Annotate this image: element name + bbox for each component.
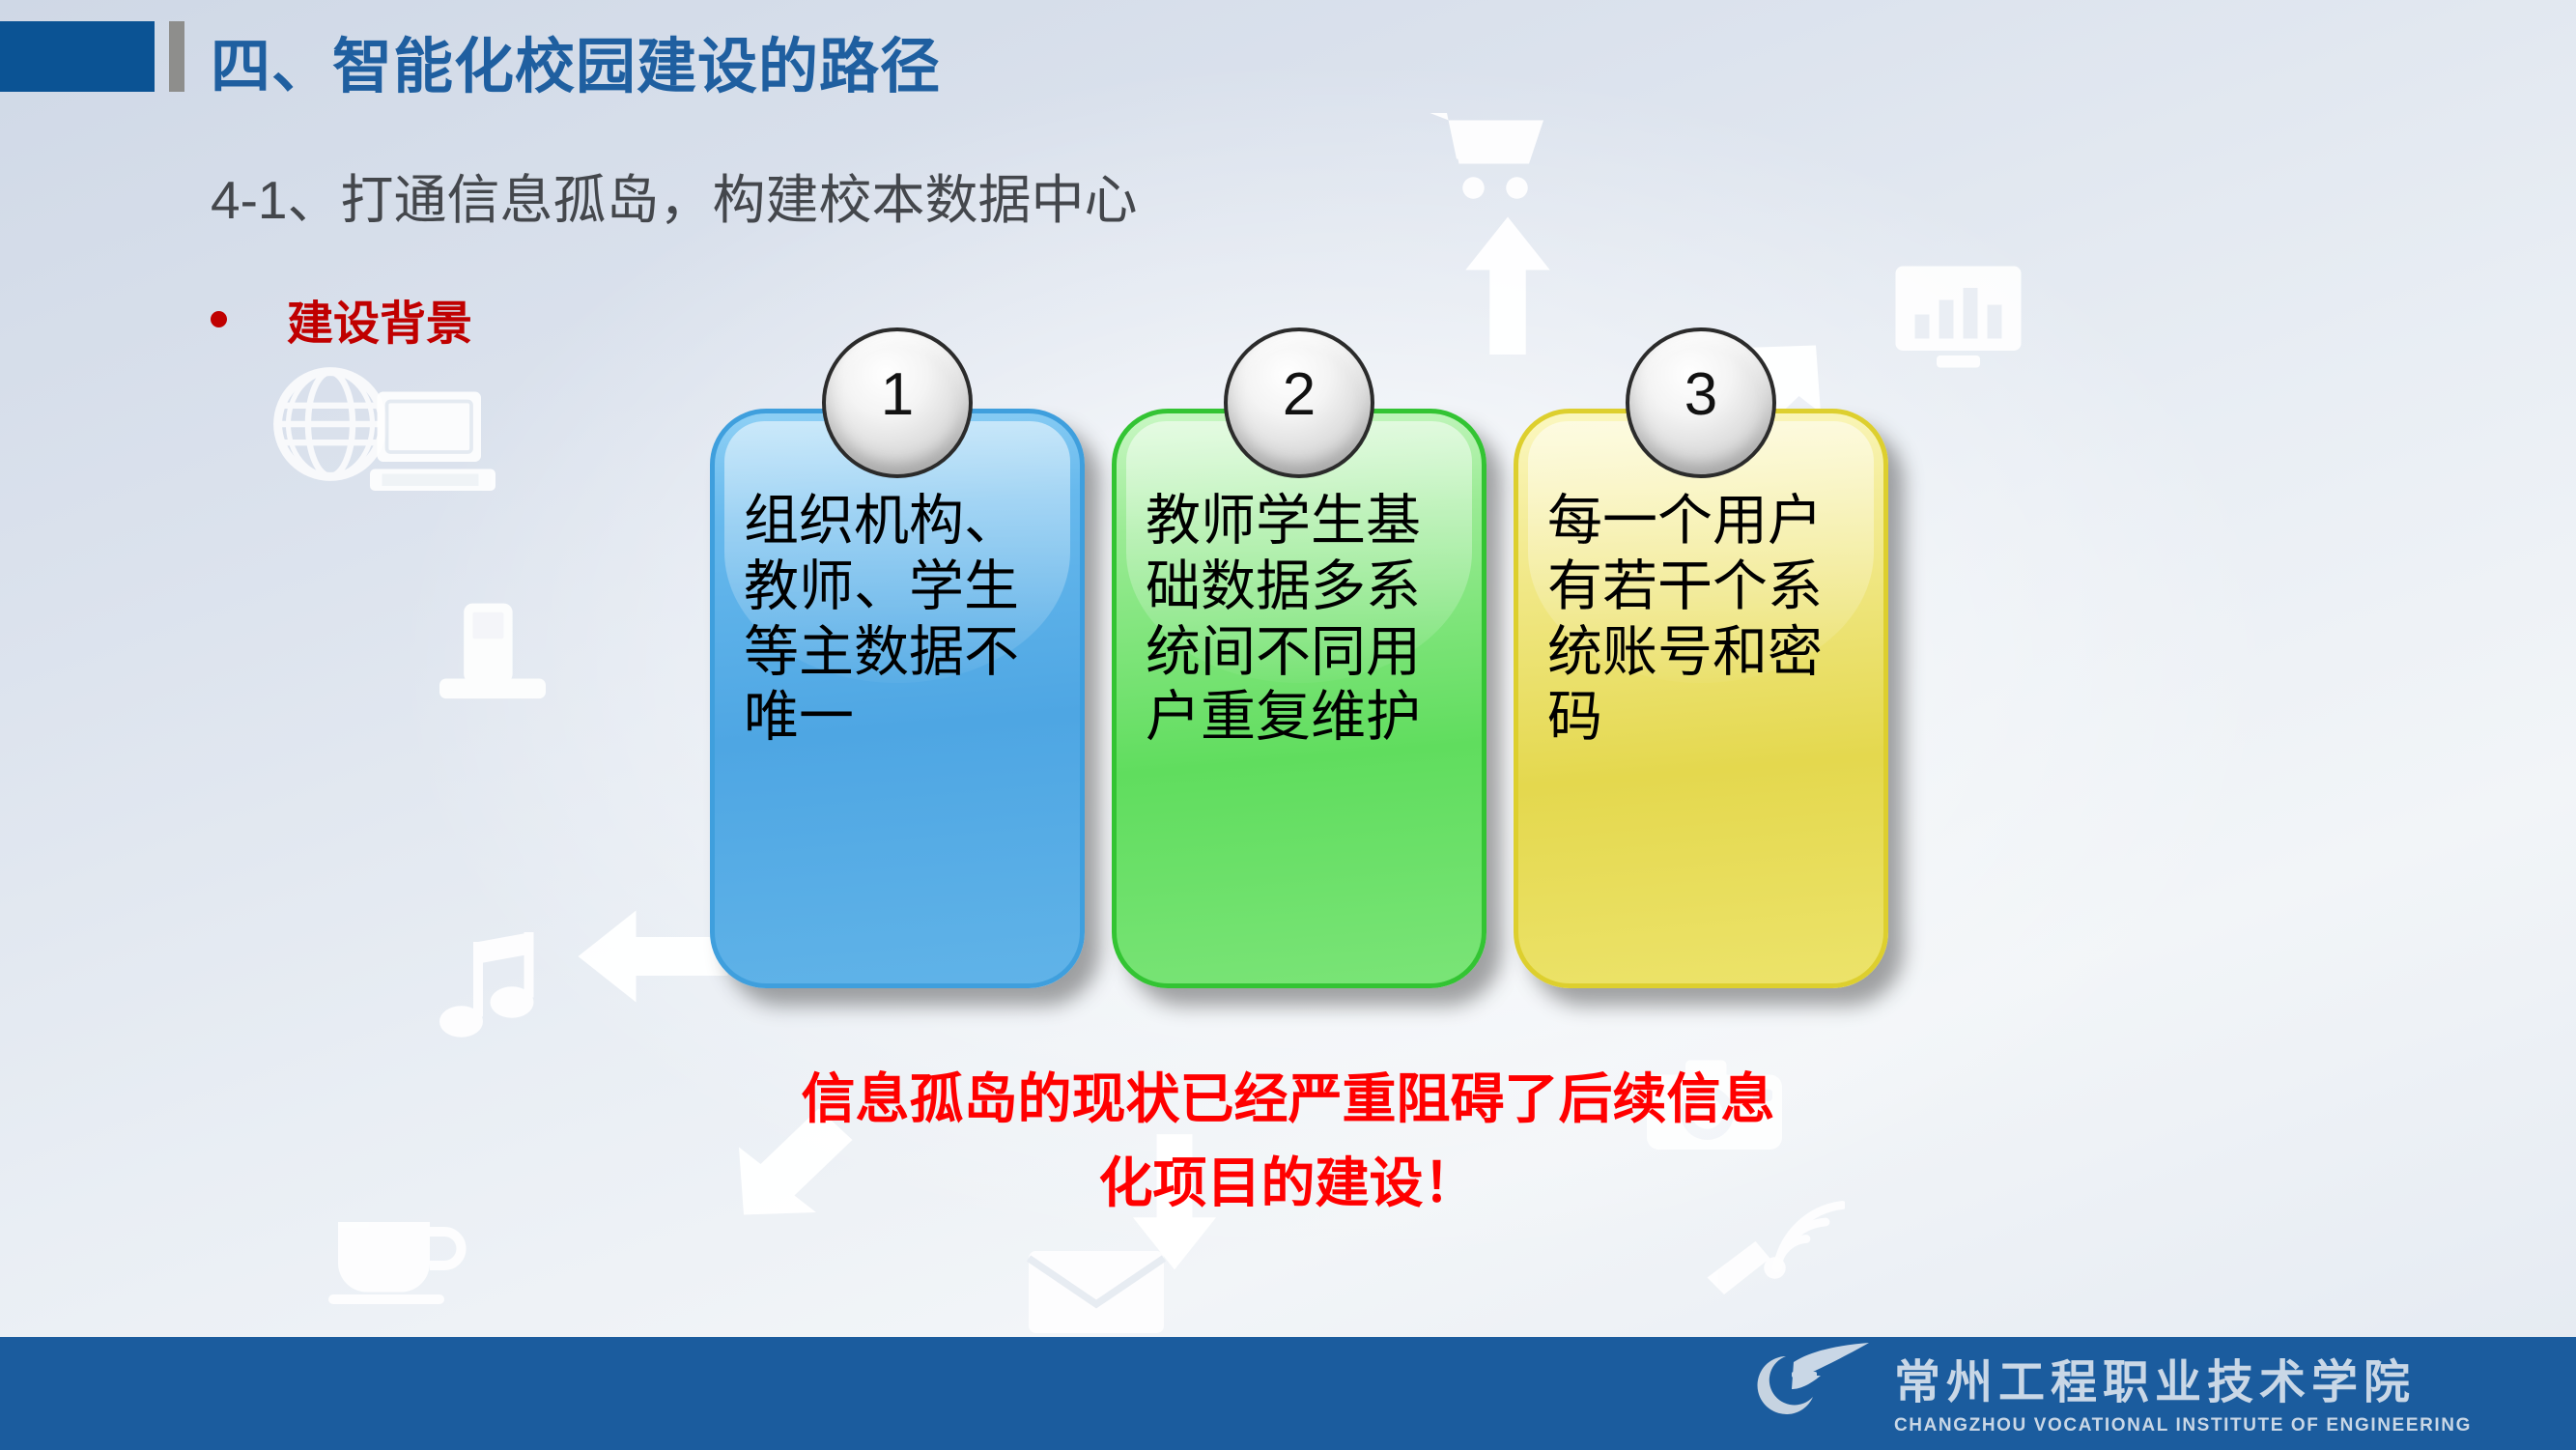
arrow-left-icon xyxy=(576,903,730,1009)
arrow-up-icon xyxy=(1460,214,1555,359)
card-text: 组织机构、教师、学生等主数据不唯一 xyxy=(744,489,1059,751)
footer-bar: 常州工程职业技术学院 CHANGZHOU VOCATIONAL INSTITUT… xyxy=(0,1337,2576,1450)
issue-card-3: 3 每一个用户有若干个系统账号和密码 xyxy=(1514,409,1888,988)
card-text: 每一个用户有若干个系统账号和密码 xyxy=(1547,489,1862,751)
cordless-phone-icon xyxy=(425,599,560,705)
header-accent-block xyxy=(0,21,155,92)
music-note-icon xyxy=(430,927,546,1053)
page-title: 四、智能化校园建设的路径 xyxy=(211,17,941,104)
institution-name-block: 常州工程职业技术学院 CHANGZHOU VOCATIONAL INSTITUT… xyxy=(1894,1359,2472,1436)
card-body: 每一个用户有若干个系统账号和密码 xyxy=(1514,409,1888,988)
issue-card-2: 2 教师学生基础数据多系统间不同用户重复维护 xyxy=(1112,409,1486,988)
conclusion-text: 信息孤岛的现状已经严重阻碍了后续信息 化项目的建设！ xyxy=(0,1058,2576,1226)
chart-monitor-icon xyxy=(1888,259,2028,375)
page-subtitle: 4-1、打通信息孤岛，构建校本数据中心 xyxy=(211,156,1138,234)
card-body: 组织机构、教师、学生等主数据不唯一 xyxy=(710,409,1085,988)
presentation-slide: 四、智能化校园建设的路径 4-1、打通信息孤岛，构建校本数据中心 建设背景 1 … xyxy=(0,0,2576,1450)
card-number-badge: 3 xyxy=(1626,327,1776,478)
desktop-computer-icon xyxy=(365,384,510,500)
card-number-label: 3 xyxy=(1684,365,1717,425)
envelope-icon xyxy=(1024,1241,1169,1343)
institution-name-cn: 常州工程职业技术学院 xyxy=(1894,1359,2472,1407)
conclusion-line-1: 信息孤岛的现状已经严重阻碍了后续信息 xyxy=(0,1058,2576,1142)
card-number-label: 1 xyxy=(881,365,914,425)
issue-card-1: 1 组织机构、教师、学生等主数据不唯一 xyxy=(710,409,1085,988)
conclusion-line-2: 化项目的建设！ xyxy=(0,1142,2576,1226)
institution-emblem-icon xyxy=(1749,1329,1873,1423)
card-number-badge: 1 xyxy=(822,327,973,478)
bullet-label: 建设背景 xyxy=(287,285,472,353)
institution-logo: 常州工程职业技术学院 CHANGZHOU VOCATIONAL INSTITUT… xyxy=(1749,1329,2472,1436)
institution-name-en: CHANGZHOU VOCATIONAL INSTITUTE OF ENGINE… xyxy=(1894,1415,2472,1436)
card-number-badge: 2 xyxy=(1224,327,1374,478)
issue-card-group: 1 组织机构、教师、学生等主数据不唯一 2 教师学生基础数据多系统间不同用户重复… xyxy=(710,409,1888,988)
card-text: 教师学生基础数据多系统间不同用户重复维护 xyxy=(1146,489,1460,751)
bullet-dot-icon xyxy=(211,311,227,327)
card-body: 教师学生基础数据多系统间不同用户重复维护 xyxy=(1112,409,1486,988)
card-number-label: 2 xyxy=(1283,365,1316,425)
shopping-cart-icon xyxy=(1428,108,1553,205)
header-accent-bar xyxy=(169,21,184,92)
globe-icon xyxy=(269,362,392,486)
bullet-item-background: 建设背景 xyxy=(211,285,472,353)
